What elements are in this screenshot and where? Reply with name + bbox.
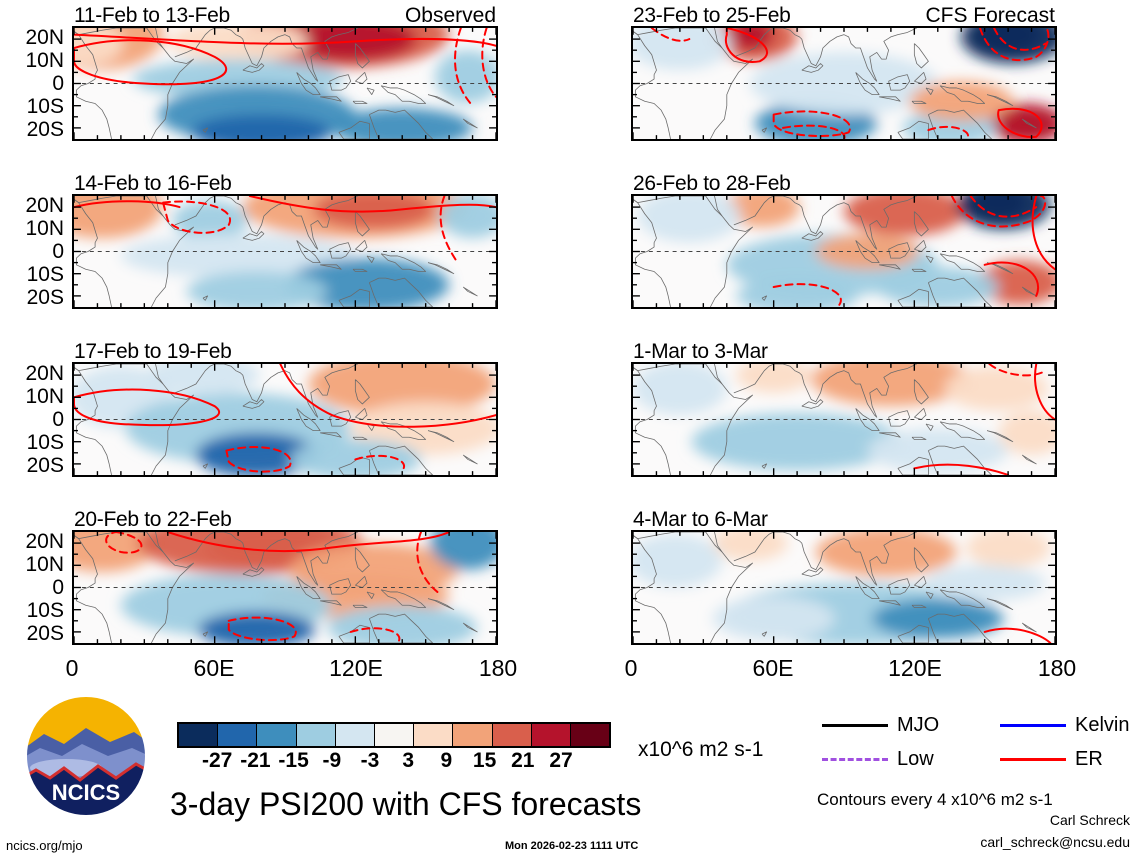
author-email: carl_schreck@ncsu.edu (880, 834, 1130, 850)
colorbar-tick-label: -3 (361, 749, 380, 773)
colorbar-cell (375, 724, 414, 746)
anomaly-map (72, 362, 498, 477)
colorbar-cell (493, 724, 532, 746)
footer-url[interactable]: ncics.org/mjo (6, 838, 83, 853)
ncics-logo[interactable]: NCICS (24, 694, 148, 818)
y-axis-tick-label: 10N (0, 50, 64, 71)
y-axis-tick-label: 20S (0, 455, 64, 476)
legend-label: Kelvin x2 (1075, 714, 1135, 737)
panel-title: 1-Mar to 3-Mar (633, 340, 768, 364)
y-axis-tick-label: 10N (0, 218, 64, 239)
x-axis-tick-label: 0 (66, 655, 79, 682)
x-axis-tick-label: 0 (625, 655, 638, 682)
y-axis-tick-label: 20S (0, 287, 64, 308)
legend-label: MJO (897, 714, 939, 737)
y-axis-tick-label: 10S (0, 600, 64, 621)
x-axis-tick-label: 120E (329, 655, 383, 682)
x-axis-tick-label: 60E (753, 655, 794, 682)
colorbar-cell (257, 724, 296, 746)
legend-label: ER (1075, 748, 1103, 771)
colorbar-tick-label: -9 (322, 749, 341, 773)
y-axis-tick-label: 10S (0, 96, 64, 117)
colorbar (177, 722, 611, 748)
legend-entry: ER (1000, 748, 1103, 771)
anomaly-map (72, 530, 498, 645)
colorbar-units-label: x10^6 m2 s-1 (638, 738, 763, 762)
panel-title: 26-Feb to 28-Feb (633, 172, 790, 196)
anomaly-map (631, 194, 1057, 309)
colorbar-tick-label: 27 (549, 749, 572, 773)
panel-title: 17-Feb to 19-Feb (74, 340, 231, 364)
colorbar-tick-label: 21 (511, 749, 534, 773)
contour-note: Contours every 4 x10^6 m2 s-1 (817, 790, 1053, 810)
anomaly-map (631, 362, 1057, 477)
panel-title: 11-Feb to 13-Feb (74, 4, 230, 28)
anomaly-map (72, 26, 498, 141)
map-panel: 1-Mar to 3-Mar (631, 362, 1057, 477)
legend-line-swatch (822, 758, 888, 761)
map-panel: 11-Feb to 13-FebObserved (72, 26, 498, 141)
logo-text: NCICS (52, 780, 120, 805)
anomaly-map (631, 26, 1057, 141)
colorbar-cell (414, 724, 453, 746)
panel-title: 23-Feb to 25-Feb (633, 4, 790, 28)
y-axis-tick-label: 0 (0, 241, 64, 262)
timestamp: Mon 2026-02-23 1111 UTC (505, 840, 638, 852)
y-axis-tick-label: 20S (0, 623, 64, 644)
colorbar-tick-label: -21 (240, 749, 270, 773)
colorbar-cell (297, 724, 336, 746)
map-panel: 4-Mar to 6-Mar (631, 530, 1057, 645)
y-axis-tick-label: 20N (0, 531, 64, 552)
legend-label: Low (897, 748, 934, 771)
map-panel: 17-Feb to 19-Feb (72, 362, 498, 477)
colorbar-cell (571, 724, 609, 746)
legend-entry: Kelvin x2 (1000, 714, 1135, 737)
colorbar-tick-label: 9 (441, 749, 453, 773)
y-axis-tick-label: 20N (0, 363, 64, 384)
x-axis-tick-label: 180 (1038, 655, 1076, 682)
map-panel: 14-Feb to 16-Feb (72, 194, 498, 309)
colorbar-tick-label: 15 (473, 749, 496, 773)
panel-title: 14-Feb to 16-Feb (74, 172, 231, 196)
map-panel: 26-Feb to 28-Feb (631, 194, 1057, 309)
colorbar-tick-label: 3 (402, 749, 414, 773)
colorbar-cell (218, 724, 257, 746)
y-axis-tick-label: 20N (0, 27, 64, 48)
panel-title: 4-Mar to 6-Mar (633, 508, 768, 532)
y-axis-tick-label: 0 (0, 73, 64, 94)
y-axis-tick-label: 20S (0, 119, 64, 140)
y-axis-tick-label: 0 (0, 409, 64, 430)
y-axis-tick-label: 10N (0, 554, 64, 575)
map-panel: 20-Feb to 22-Feb (72, 530, 498, 645)
y-axis-tick-label: 10N (0, 386, 64, 407)
panel-column-header: CFS Forecast (925, 4, 1055, 28)
y-axis-tick-label: 20N (0, 195, 64, 216)
x-axis-tick-label: 120E (888, 655, 942, 682)
legend-line-swatch (1000, 724, 1066, 727)
y-axis-tick-label: 10S (0, 432, 64, 453)
colorbar-cell (179, 724, 218, 746)
colorbar-cell (453, 724, 492, 746)
x-axis-tick-label: 180 (479, 655, 517, 682)
page-title: 3-day PSI200 with CFS forecasts (170, 786, 641, 823)
colorbar-cell (336, 724, 375, 746)
legend-entry: MJO (822, 714, 939, 737)
legend-line-swatch (822, 724, 888, 727)
colorbar-tick-label: -27 (202, 749, 232, 773)
y-axis-tick-label: 0 (0, 577, 64, 598)
legend-entry: Low (822, 748, 934, 771)
colorbar-cell (532, 724, 571, 746)
map-panel: 23-Feb to 25-FebCFS Forecast (631, 26, 1057, 141)
anomaly-map (631, 530, 1057, 645)
panel-column-header: Observed (405, 4, 496, 28)
panel-title: 20-Feb to 22-Feb (74, 508, 231, 532)
x-axis-tick-label: 60E (194, 655, 235, 682)
y-axis-tick-label: 10S (0, 264, 64, 285)
anomaly-map (72, 194, 498, 309)
author-credit: Carl Schreck (880, 812, 1130, 828)
colorbar-tick-label: -15 (278, 749, 308, 773)
legend-line-swatch (1000, 758, 1066, 761)
